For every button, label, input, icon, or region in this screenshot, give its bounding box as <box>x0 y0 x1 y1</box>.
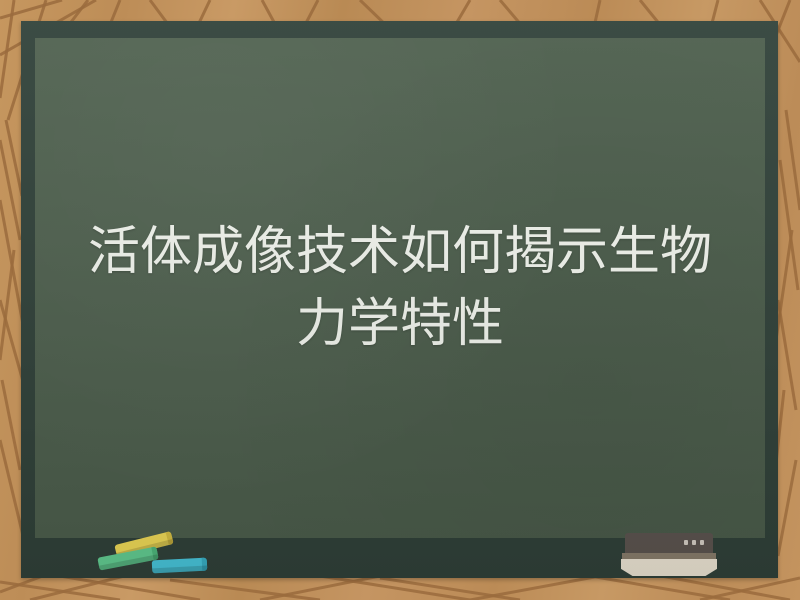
eraser-dots <box>684 540 704 545</box>
eraser-handle <box>625 533 713 553</box>
blackboard-eraser-icon[interactable] <box>621 533 717 576</box>
eraser-felt <box>621 559 717 576</box>
chalkboard-surface: 活体成像技术如何揭示生物力学特性 <box>35 38 765 538</box>
chalk-stick-blue[interactable] <box>152 558 208 574</box>
slide-title: 活体成像技术如何揭示生物力学特性 <box>35 38 765 538</box>
slide-canvas: 活体成像技术如何揭示生物力学特性 <box>0 0 800 600</box>
eraser-dot <box>684 540 688 545</box>
eraser-dot <box>700 540 704 545</box>
chalkboard-frame: 活体成像技术如何揭示生物力学特性 <box>21 21 778 578</box>
chalk-shadow <box>99 555 159 571</box>
chalk-shadow <box>152 566 207 573</box>
slide-title-text: 活体成像技术如何揭示生物力学特性 <box>63 216 737 360</box>
eraser-midband <box>622 553 716 559</box>
eraser-dot <box>692 540 696 545</box>
